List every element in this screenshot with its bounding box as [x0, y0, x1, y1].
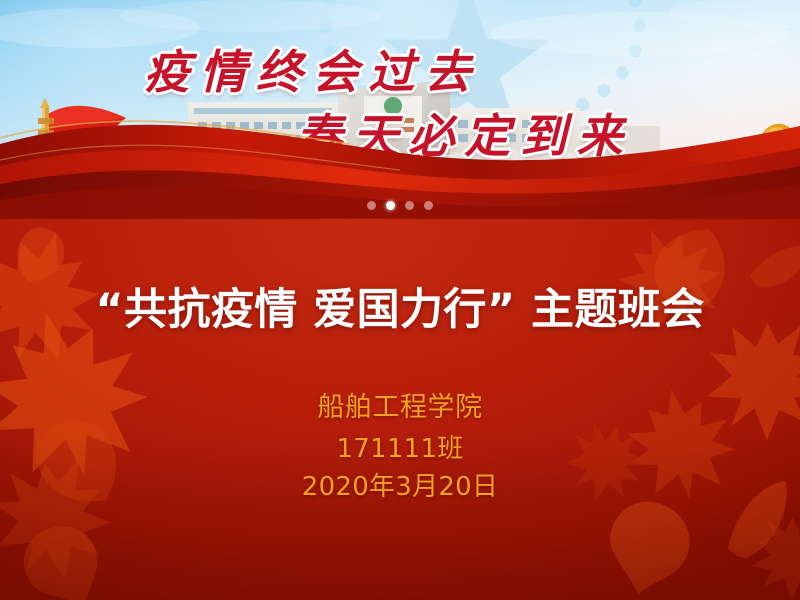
date-label: 2020年3月20日 — [0, 466, 800, 503]
carousel-dot-2[interactable] — [386, 201, 395, 210]
carousel-dot-1[interactable] — [367, 201, 376, 210]
carousel-dot-3[interactable] — [405, 201, 414, 210]
slide-content: “共抗疫情 爱国力行” 主题班会 船舶工程学院 171111班 2020年3月2… — [0, 219, 800, 600]
organization-label: 船舶工程学院 — [0, 385, 800, 424]
class-label: 171111班 — [0, 428, 800, 465]
slide-title: “共抗疫情 爱国力行” 主题班会 — [0, 275, 800, 337]
presentation-slide: 疫情终会过去 春天必定到来 — [0, 0, 800, 600]
carousel-dots[interactable] — [0, 201, 800, 210]
carousel-dot-4[interactable] — [424, 201, 433, 210]
header-banner: 疫情终会过去 春天必定到来 — [0, 0, 800, 219]
banner-headline-line1: 疫情终会过去 — [144, 36, 481, 102]
